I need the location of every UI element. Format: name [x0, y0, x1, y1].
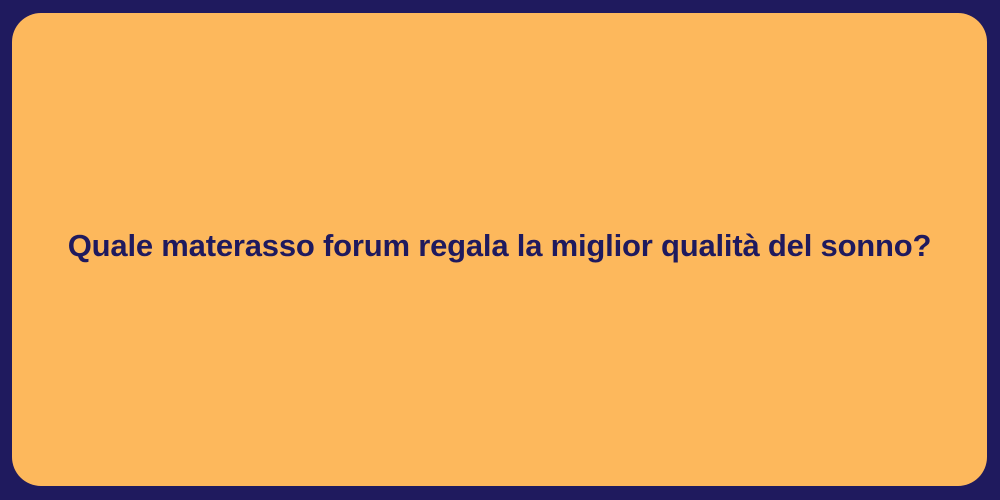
banner-heading: Quale materasso forum regala la miglior … [12, 227, 987, 266]
banner-frame: Quale materasso forum regala la miglior … [0, 0, 1000, 500]
banner-panel: Quale materasso forum regala la miglior … [12, 13, 987, 486]
